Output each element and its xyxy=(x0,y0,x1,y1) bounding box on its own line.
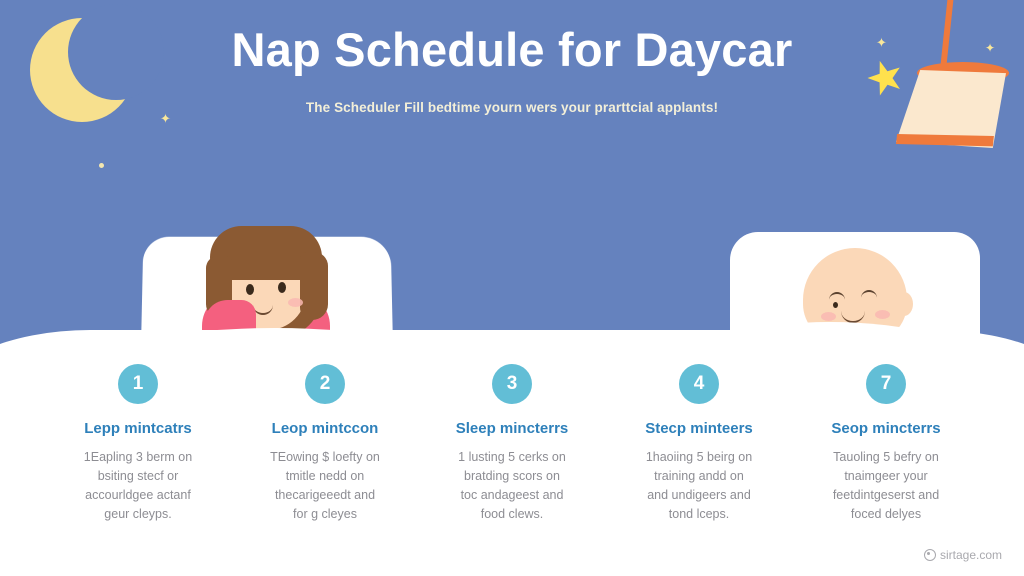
step-body-line: geur cleyps. xyxy=(48,505,228,524)
step-body-line: feetdintgeserst and xyxy=(796,486,976,505)
step-body-line: tond lceps. xyxy=(609,505,789,524)
step-body-line: tmitle nedd on xyxy=(235,467,415,486)
page-title: Nap Schedule for Daycar xyxy=(0,22,1024,77)
watermark: sirtage.com xyxy=(924,548,1002,562)
step-body-line: food clews. xyxy=(422,505,602,524)
step-number-badge: 3 xyxy=(492,364,532,404)
step-number-badge: 2 xyxy=(305,364,345,404)
step-body: 1Eapling 3 berm on bsiting stecf or acco… xyxy=(48,448,228,524)
step-body-line: bsiting stecf or xyxy=(48,467,228,486)
step-card-4[interactable]: 4 Stecp minteers 1haoiing 5 beirg on tra… xyxy=(609,364,789,524)
step-body-line: 1 lusting 5 cerks on xyxy=(422,448,602,467)
step-body-line: for g cleyes xyxy=(235,505,415,524)
step-title: Seop mincterrs xyxy=(796,420,976,437)
page-subtitle: The Scheduler Fill bedtime yourn wers yo… xyxy=(0,100,1024,115)
step-body-line: Tauoling 5 befry on xyxy=(796,448,976,467)
step-body-line: and undigeers and xyxy=(609,486,789,505)
step-card-3[interactable]: 3 Sleep mincterrs 1 lusting 5 cerks on b… xyxy=(422,364,602,524)
step-body-line: bratding scors on xyxy=(422,467,602,486)
step-body: TEowing $ loefty on tmitle nedd on theca… xyxy=(235,448,415,524)
step-card-5[interactable]: 7 Seop mincterrs Tauoling 5 befry on tna… xyxy=(796,364,976,524)
step-body-line: training andd on xyxy=(609,467,789,486)
step-title: Sleep mincterrs xyxy=(422,420,602,437)
step-number-badge: 1 xyxy=(118,364,158,404)
step-body-line: TEowing $ loefty on xyxy=(235,448,415,467)
step-title: Stecp minteers xyxy=(609,420,789,437)
step-body: Tauoling 5 befry on tnaimgeer your feetd… xyxy=(796,448,976,524)
step-number-badge: 4 xyxy=(679,364,719,404)
step-title: Lepp mintcatrs xyxy=(48,420,228,437)
step-number-badge: 7 xyxy=(866,364,906,404)
step-body-line: tnaimgeer your xyxy=(796,467,976,486)
star-dot-left-icon xyxy=(99,163,104,168)
step-body-line: toc andageest and xyxy=(422,486,602,505)
step-card-2[interactable]: 2 Leop mintccon TEowing $ loefty on tmit… xyxy=(235,364,415,524)
step-card-1[interactable]: 1 Lepp mintcatrs 1Eapling 3 berm on bsit… xyxy=(48,364,228,524)
copyright-icon xyxy=(924,549,936,561)
step-body-line: thecarigeeedt and xyxy=(235,486,415,505)
infographic-poster: ✦ ✦ ✦ Nap S xyxy=(0,0,1024,576)
step-body-line: foced delyes xyxy=(796,505,976,524)
steps-row: 1 Lepp mintcatrs 1Eapling 3 berm on bsit… xyxy=(48,364,976,524)
step-body-line: accourldgee actanf xyxy=(48,486,228,505)
step-body: 1haoiing 5 beirg on training andd on and… xyxy=(609,448,789,524)
step-body-line: 1haoiing 5 beirg on xyxy=(609,448,789,467)
step-body: 1 lusting 5 cerks on bratding scors on t… xyxy=(422,448,602,524)
step-title: Leop mintccon xyxy=(235,420,415,437)
step-body-line: 1Eapling 3 berm on xyxy=(48,448,228,467)
watermark-text: sirtage.com xyxy=(940,548,1002,562)
